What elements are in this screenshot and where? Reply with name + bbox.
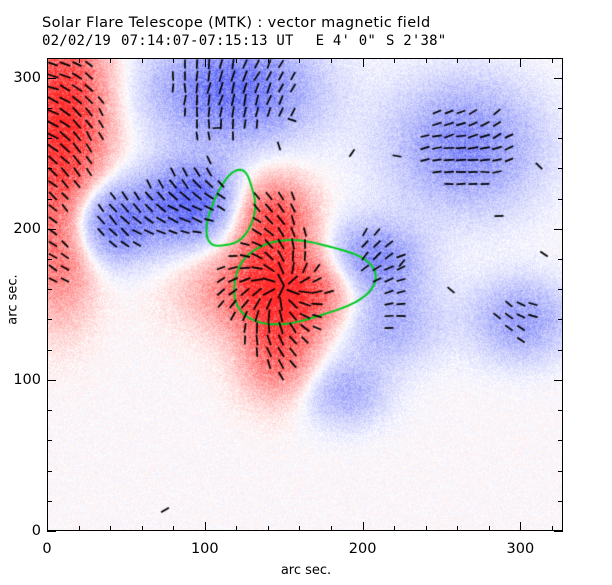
y-tick-220 bbox=[47, 199, 52, 200]
y-tick-260 bbox=[47, 138, 52, 139]
y-tick-right-120 bbox=[558, 350, 563, 351]
x-tick-top-20 bbox=[79, 58, 80, 63]
pointing-east-west: E 4' 0" bbox=[316, 32, 376, 50]
y-tick-80 bbox=[47, 410, 52, 411]
observation-date: 02/02/19 bbox=[42, 32, 111, 50]
x-tick-label-200: 200 bbox=[349, 541, 377, 557]
x-tick-220 bbox=[394, 526, 395, 531]
y-tick-right-40 bbox=[558, 471, 563, 472]
x-tick-140 bbox=[268, 526, 269, 531]
y-tick-0 bbox=[47, 531, 56, 532]
figure-title-block: Solar Flare Telescope (MTK) : vector mag… bbox=[42, 14, 582, 50]
y-tick-right-160 bbox=[558, 289, 563, 290]
x-tick-top-180 bbox=[331, 58, 332, 63]
y-tick-right-140 bbox=[558, 319, 563, 320]
x-tick-160 bbox=[299, 526, 300, 531]
observation-time-range: 07:14:07-07:15:13 UT bbox=[121, 32, 294, 50]
x-tick-top-240 bbox=[426, 58, 427, 63]
x-tick-top-260 bbox=[457, 58, 458, 63]
x-tick-280 bbox=[489, 526, 490, 531]
y-tick-right-100 bbox=[554, 380, 563, 381]
x-tick-top-40 bbox=[110, 58, 111, 63]
x-tick-label-300: 300 bbox=[507, 541, 535, 557]
y-tick-120 bbox=[47, 350, 52, 351]
x-tick-240 bbox=[426, 526, 427, 531]
x-tick-top-0 bbox=[47, 58, 48, 67]
y-tick-200 bbox=[47, 229, 56, 230]
y-tick-180 bbox=[47, 259, 52, 260]
x-tick-0 bbox=[47, 522, 48, 531]
x-tick-top-60 bbox=[142, 58, 143, 63]
x-tick-top-220 bbox=[394, 58, 395, 63]
y-tick-label-100: 100 bbox=[13, 372, 41, 388]
x-tick-60 bbox=[142, 526, 143, 531]
x-tick-top-140 bbox=[268, 58, 269, 63]
y-tick-right-300 bbox=[554, 78, 563, 79]
x-tick-300 bbox=[520, 522, 521, 531]
magnetogram-raster bbox=[47, 58, 563, 531]
x-tick-label-0: 0 bbox=[42, 541, 51, 557]
y-tick-right-20 bbox=[558, 501, 563, 502]
figure-title: Solar Flare Telescope (MTK) : vector mag… bbox=[42, 14, 582, 32]
y-tick-right-180 bbox=[558, 259, 563, 260]
y-tick-100 bbox=[47, 380, 56, 381]
x-tick-100 bbox=[205, 522, 206, 531]
x-tick-top-200 bbox=[363, 58, 364, 67]
x-tick-top-280 bbox=[489, 58, 490, 63]
x-tick-260 bbox=[457, 526, 458, 531]
x-tick-top-120 bbox=[236, 58, 237, 63]
x-tick-180 bbox=[331, 526, 332, 531]
y-tick-40 bbox=[47, 471, 52, 472]
x-tick-top-300 bbox=[520, 58, 521, 67]
y-tick-right-280 bbox=[558, 108, 563, 109]
x-tick-40 bbox=[110, 526, 111, 531]
magnetogram-plot-area bbox=[47, 58, 563, 531]
y-tick-right-0 bbox=[554, 531, 563, 532]
y-tick-right-200 bbox=[554, 229, 563, 230]
x-tick-label-100: 100 bbox=[191, 541, 219, 557]
x-axis-label: arc sec. bbox=[0, 563, 612, 578]
pointing-north-south: S 2'38" bbox=[386, 32, 446, 50]
y-tick-right-60 bbox=[558, 440, 563, 441]
x-tick-top-80 bbox=[173, 58, 174, 63]
y-tick-right-80 bbox=[558, 410, 563, 411]
x-tick-200 bbox=[363, 522, 364, 531]
y-tick-label-200: 200 bbox=[13, 221, 41, 237]
y-tick-240 bbox=[47, 168, 52, 169]
magnetogram-figure: Solar Flare Telescope (MTK) : vector mag… bbox=[0, 0, 612, 585]
y-tick-label-300: 300 bbox=[13, 70, 41, 86]
x-tick-top-160 bbox=[299, 58, 300, 63]
x-tick-top-320 bbox=[552, 58, 553, 63]
y-tick-280 bbox=[47, 108, 52, 109]
x-tick-20 bbox=[79, 526, 80, 531]
x-tick-top-100 bbox=[205, 58, 206, 67]
x-tick-80 bbox=[173, 526, 174, 531]
y-tick-label-0: 0 bbox=[32, 523, 41, 539]
figure-subtitle: 02/02/1907:14:07-07:15:13 UTE 4' 0"S 2'3… bbox=[42, 32, 582, 50]
y-tick-60 bbox=[47, 440, 52, 441]
y-tick-20 bbox=[47, 501, 52, 502]
y-tick-right-260 bbox=[558, 138, 563, 139]
y-tick-300 bbox=[47, 78, 56, 79]
y-tick-right-240 bbox=[558, 168, 563, 169]
y-tick-140 bbox=[47, 319, 52, 320]
x-tick-120 bbox=[236, 526, 237, 531]
y-tick-right-220 bbox=[558, 199, 563, 200]
y-axis-label: arc sec. bbox=[6, 260, 21, 340]
y-tick-160 bbox=[47, 289, 52, 290]
